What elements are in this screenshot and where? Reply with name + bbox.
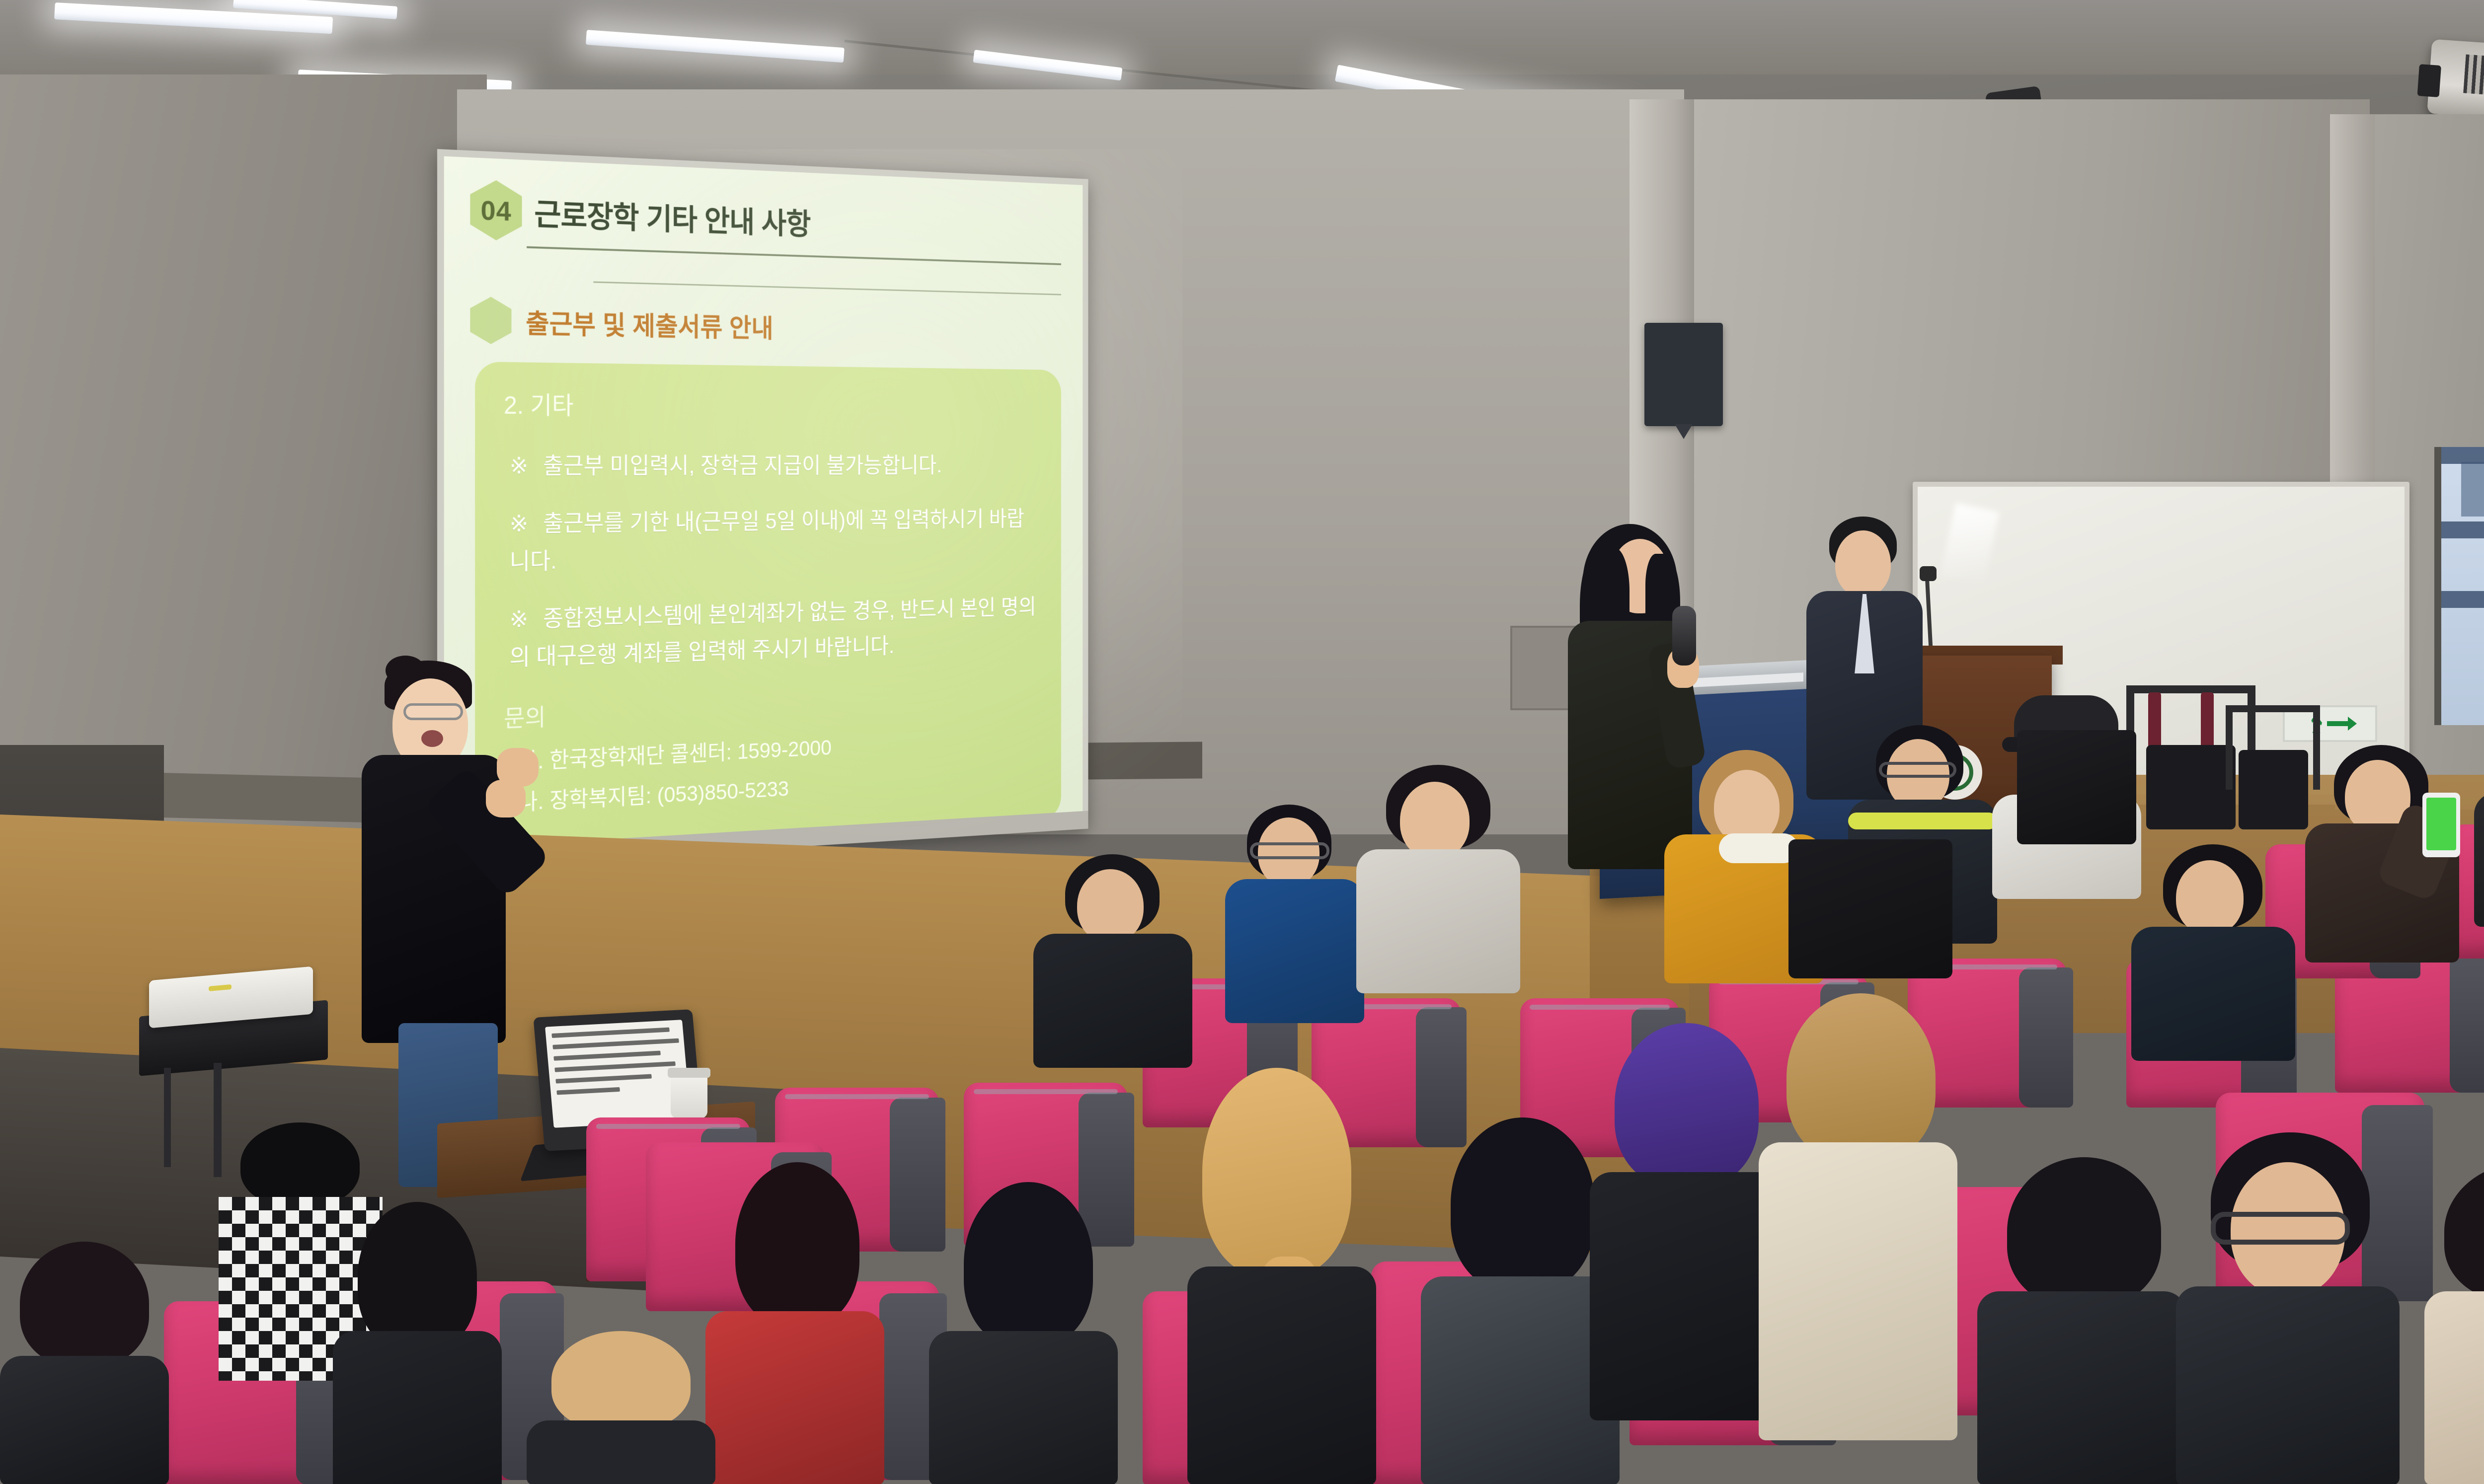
ceiling-projector xyxy=(2427,39,2484,125)
slide-subtitle: 출근부 및 제출서류 안내 xyxy=(526,302,773,345)
eyeglasses-icon xyxy=(1879,762,1956,778)
audience-member xyxy=(1033,854,1192,1063)
hexagon-bullet-icon xyxy=(470,297,511,345)
audience-member xyxy=(0,1242,169,1484)
sign-language-interpreter xyxy=(343,656,571,1192)
microphone-icon xyxy=(1672,606,1696,666)
arrow-right-icon xyxy=(2327,721,2349,726)
audience-member xyxy=(929,1182,1118,1484)
cart-leg xyxy=(164,1068,171,1167)
bullet-marker-icon: ※ xyxy=(510,452,529,478)
eyeglasses-icon xyxy=(2211,1212,2350,1245)
audience-member xyxy=(2474,710,2484,924)
smartphone[interactable] xyxy=(2422,793,2460,857)
slide-bullet: ※ 출근부 미입력시, 장학금 지급이 불가능합니다. xyxy=(510,446,1039,485)
audience-member-taking-photo xyxy=(2305,745,2459,959)
fur-hood xyxy=(1719,833,1798,863)
bullet-text: 출근부 미입력시, 장학금 지급이 불가능합니다. xyxy=(543,452,942,478)
audience-member-purple-hair xyxy=(1590,1023,1779,1420)
paper-cup xyxy=(671,1073,707,1118)
audience-member xyxy=(328,1202,507,1484)
slide-subheader: 출근부 및 제출서류 안내 xyxy=(470,297,1061,354)
audience-member xyxy=(2424,1162,2484,1484)
eyeglasses-icon xyxy=(1250,842,1329,859)
slide-title: 근로장학 기타 안내 사항 xyxy=(534,190,810,243)
audience-member xyxy=(1759,993,1957,1440)
beret-hat xyxy=(240,1122,360,1207)
audience-member xyxy=(2131,844,2295,1058)
audience-member xyxy=(527,1331,715,1484)
slide-body-heading: 2. 기타 xyxy=(504,385,1039,424)
eyeglasses-icon xyxy=(403,703,463,720)
mouth xyxy=(421,730,443,747)
speaker-icon xyxy=(1644,323,1723,426)
audience-member xyxy=(1356,765,1520,988)
bullet-marker-icon: ※ xyxy=(510,605,529,632)
audience-member xyxy=(1977,1157,2186,1484)
audience-member xyxy=(1222,805,1366,1018)
window xyxy=(2434,447,2484,725)
section-number-badge: 04 xyxy=(470,179,522,241)
signing-hand xyxy=(486,780,526,817)
backpack xyxy=(1788,839,1952,978)
slide-bullet: ※ 출근부를 기한 내(근무일 5일 이내)에 꼭 입력하시기 바랍니다. xyxy=(510,501,1039,581)
bullet-marker-icon: ※ xyxy=(510,510,529,536)
header-rule-secondary xyxy=(593,281,1061,295)
bullet-text: 종합정보시스템에 본인계좌가 없는 경우, 반드시 본인 명의의 대구은행 계좌… xyxy=(510,594,1036,670)
bullet-text: 출근부를 기한 내(근무일 5일 이내)에 꼭 입력하시기 바랍니다. xyxy=(510,506,1024,575)
slide-bullet: ※ 종합정보시스템에 본인계좌가 없는 경우, 반드시 본인 명의의 대구은행 … xyxy=(510,589,1039,676)
jacket-trim xyxy=(1848,813,1997,829)
window-panes xyxy=(2461,462,2484,517)
audience-member-blonde xyxy=(1182,1068,1381,1484)
lecture-hall-photo: 04 근로장학 기타 안내 사항 출근부 및 제출서류 안내 2. 기타 ※ 출… xyxy=(0,0,2484,1484)
bag xyxy=(2017,730,2136,844)
audience-member xyxy=(705,1162,884,1484)
audience-member-with-glasses xyxy=(2176,1132,2400,1484)
